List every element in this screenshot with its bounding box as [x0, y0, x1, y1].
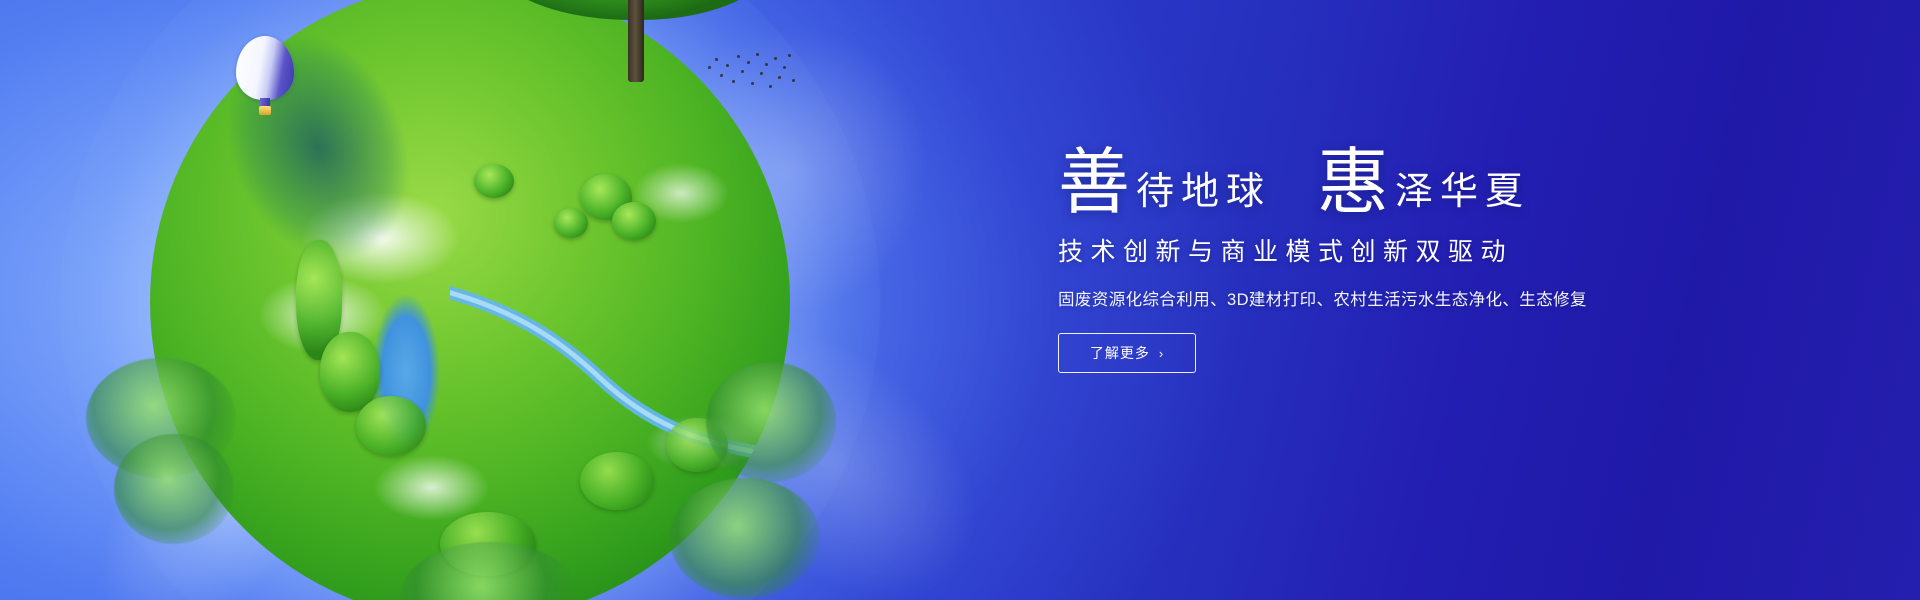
- hot-air-balloon-icon: [236, 36, 294, 118]
- bush-cluster: [612, 202, 656, 240]
- balloon-envelope: [236, 36, 294, 100]
- tree-trunk: [628, 0, 644, 82]
- learn-more-label: 了解更多: [1090, 343, 1150, 363]
- hero-description: 固废资源化综合利用、3D建材打印、农村生活污水生态净化、生态修复: [1058, 286, 1618, 310]
- edge-tree-icon: [670, 478, 820, 598]
- edge-tree-icon: [706, 362, 836, 482]
- headline-text-2: 泽华夏: [1395, 173, 1530, 216]
- bush-cluster: [474, 164, 514, 198]
- hero-copy: 善 待地球 惠 泽华夏 技术创新与商业模式创新双驱动 固废资源化综合利用、3D建…: [1058, 150, 1618, 373]
- page-title: 善 待地球 惠 泽华夏: [1058, 150, 1618, 216]
- learn-more-button[interactable]: 了解更多 ›: [1058, 333, 1196, 373]
- chevron-right-icon: ›: [1159, 347, 1164, 360]
- bush-cluster: [580, 452, 654, 510]
- headline-char-1: 善: [1058, 150, 1130, 216]
- bush-cluster: [356, 396, 426, 456]
- hero-banner: 善 待地球 惠 泽华夏 技术创新与商业模式创新双驱动 固废资源化综合利用、3D建…: [0, 0, 1920, 600]
- bush-cluster: [554, 208, 588, 238]
- hero-subtitle: 技术创新与商业模式创新双驱动: [1058, 232, 1618, 268]
- edge-tree-icon: [114, 434, 234, 544]
- balloon-basket: [259, 106, 271, 115]
- headline-char-2: 惠: [1317, 150, 1389, 216]
- bird-flock-icon: [706, 52, 796, 96]
- headline-text-1: 待地球: [1136, 173, 1271, 216]
